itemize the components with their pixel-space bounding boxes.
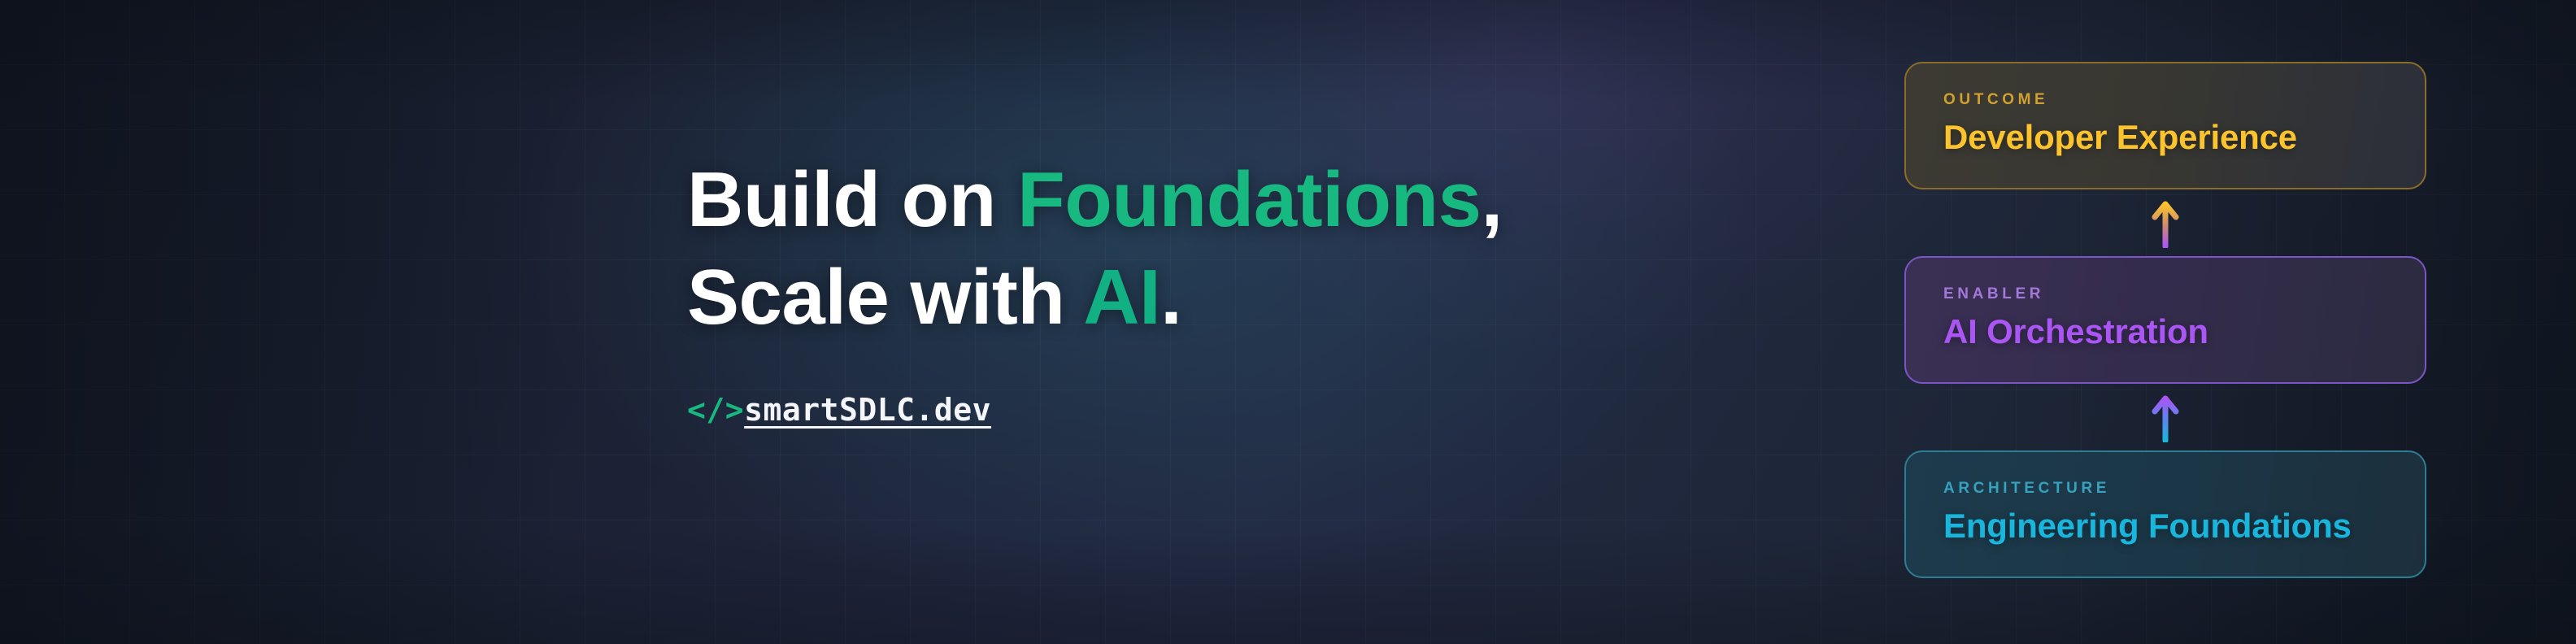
arrow-enabler-to-outcome bbox=[1904, 189, 2426, 256]
card-outcome-eyebrow: OUTCOME bbox=[1943, 91, 2425, 109]
arrow-up-icon bbox=[2152, 198, 2179, 248]
headline-segment-scale-with: Scale with bbox=[687, 254, 1083, 341]
arrow-architecture-to-enabler bbox=[1904, 384, 2426, 450]
arrow-up-icon bbox=[2152, 392, 2179, 442]
layer-stack: OUTCOME Developer Experience ENABLER AI … bbox=[1904, 62, 2426, 578]
hero-banner: Build on Foundations, Scale with AI. </>… bbox=[0, 0, 2576, 644]
card-outcome[interactable]: OUTCOME Developer Experience bbox=[1904, 62, 2426, 189]
headline-segment-build-on: Build on bbox=[687, 156, 1017, 243]
headline-segment-comma: , bbox=[1481, 156, 1502, 243]
headline-line-1: Build on Foundations, bbox=[687, 156, 1503, 243]
card-enabler-eyebrow: ENABLER bbox=[1943, 285, 2425, 303]
card-architecture-eyebrow: ARCHITECTURE bbox=[1943, 480, 2425, 498]
page-title: Build on Foundations, Scale with AI. bbox=[687, 151, 1769, 346]
code-tag-icon: </> bbox=[687, 392, 744, 428]
card-outcome-title: Developer Experience bbox=[1943, 120, 2425, 155]
headline-segment-foundations: Foundations bbox=[1017, 156, 1481, 243]
hero-copy-block: Build on Foundations, Scale with AI. </>… bbox=[687, 151, 1769, 428]
card-enabler[interactable]: ENABLER AI Orchestration bbox=[1904, 256, 2426, 384]
headline-segment-period: . bbox=[1160, 254, 1181, 341]
card-architecture-title: Engineering Foundations bbox=[1943, 508, 2425, 544]
card-enabler-title: AI Orchestration bbox=[1943, 314, 2425, 350]
headline-line-2: Scale with AI. bbox=[687, 254, 1181, 341]
card-architecture[interactable]: ARCHITECTURE Engineering Foundations bbox=[1904, 450, 2426, 578]
site-link[interactable]: </>smartSDLC.dev bbox=[687, 392, 991, 428]
site-link-label: smartSDLC.dev bbox=[744, 392, 991, 428]
headline-segment-ai: AI bbox=[1083, 254, 1160, 341]
